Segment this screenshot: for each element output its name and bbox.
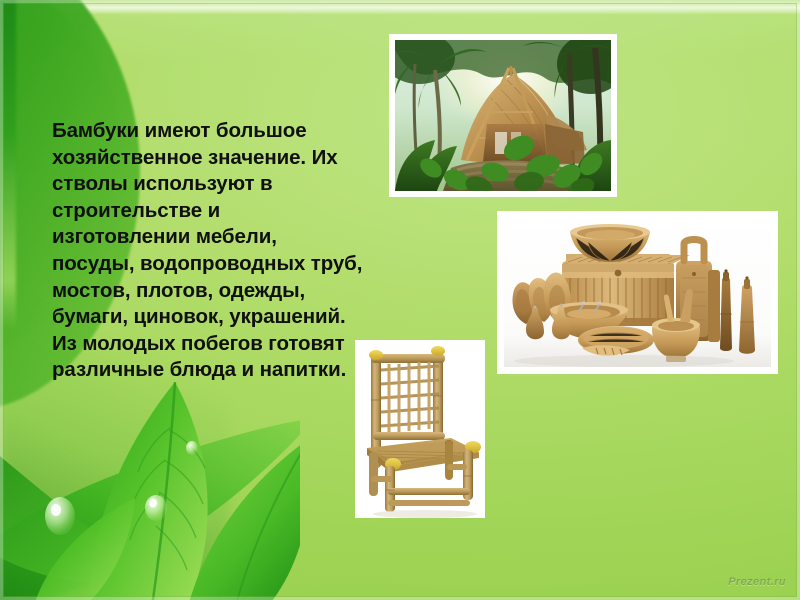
slide-body-text: Бамбуки имеют большое хозяйственное знач… [52,118,382,384]
bamboo-hut-photo[interactable] [389,34,617,197]
bamboo-kitchenware-photo[interactable] [497,211,778,374]
watermark: Prezent.ru [728,576,786,588]
bamboo-chair-photo-inner [355,340,485,518]
slide-top-highlight-stripe [0,0,800,14]
bamboo-hut-photo-inner [395,40,611,191]
bamboo-chair-photo[interactable] [355,340,485,518]
bamboo-kitchenware-photo-inner [504,218,771,367]
left-edge-accent [0,0,16,330]
presentation-slide: Бамбуки имеют большое хозяйственное знач… [0,0,800,600]
